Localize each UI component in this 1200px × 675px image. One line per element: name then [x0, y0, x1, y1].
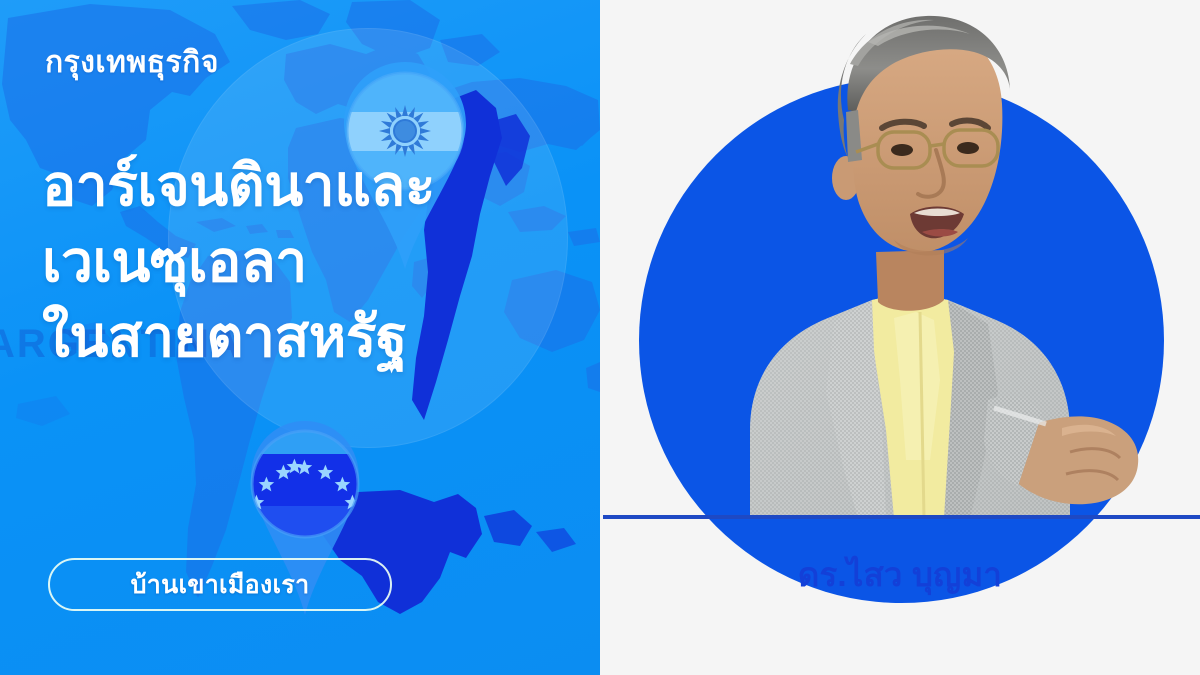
- right-portrait-panel: ดร.ไสว บุญมา: [600, 0, 1200, 675]
- section-divider: [603, 515, 1200, 519]
- headline-line-2: เวเนซุเอลา: [42, 231, 587, 294]
- column-badge-label: บ้านเขาเมืองเรา: [131, 565, 310, 605]
- headline-line-1: อาร์เจนตินาและ: [42, 155, 587, 218]
- article-cover-card: ARGENTINA: [0, 0, 1200, 675]
- page-title: อาร์เจนตินาและ เวเนซุเอลา ในสายตาสหรัฐ: [42, 155, 587, 369]
- column-badge[interactable]: บ้านเขาเมืองเรา: [48, 558, 392, 611]
- left-blue-panel: ARGENTINA: [0, 0, 600, 675]
- author-name: ดร.ไสว บุญมา: [600, 548, 1200, 601]
- brand-logo-text: กรุงเทพธุรกิจ: [45, 44, 219, 82]
- author-portrait-image: [658, 0, 1158, 518]
- headline-line-3: ในสายตาสหรัฐ: [42, 306, 587, 369]
